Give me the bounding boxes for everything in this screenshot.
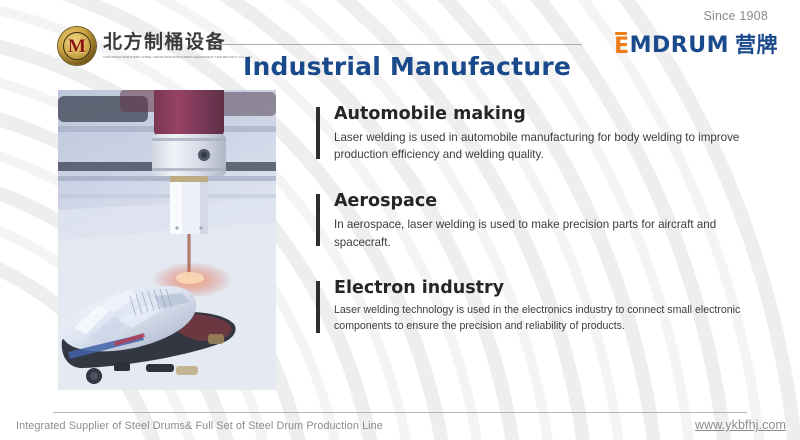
section-body: In aerospace, laser welding is used to m…: [334, 216, 754, 251]
section-title: Electron industry: [334, 278, 776, 300]
emdrum-brand-logo: E MDRUM 营牌: [614, 33, 778, 58]
photo-illustration: [58, 90, 276, 390]
section-accent-bar: [316, 107, 320, 159]
logo-company-name-cn: 北方制桶设备: [103, 33, 252, 53]
slide-canvas: M 北方制桶设备 TANGSHAN NORTHERN STEEL DRUM MA…: [0, 0, 800, 440]
emdrum-brand-text-cn: 营牌: [735, 35, 778, 56]
section-accent-bar: [316, 281, 320, 333]
company-logo: M 北方制桶设备 TANGSHAN NORTHERN STEEL DRUM MA…: [58, 27, 252, 65]
emdrum-brand-text: MDRUM: [630, 35, 729, 57]
since-label: Since 1908: [703, 9, 768, 23]
section-title: Aerospace: [334, 191, 776, 213]
section-aerospace: Aerospace In aerospace, laser welding is…: [316, 191, 776, 251]
header-divider: [213, 44, 582, 45]
laser-welding-photo: [58, 90, 276, 390]
logo-badge-icon: M: [58, 27, 96, 65]
logo-text-block: 北方制桶设备 TANGSHAN NORTHERN STEEL DRUM MANU…: [103, 33, 252, 59]
page-title: Industrial Manufacture: [243, 52, 571, 81]
section-title: Automobile making: [334, 104, 776, 126]
footer-website-link[interactable]: www.ykbfhj.com: [695, 418, 786, 432]
section-body: Laser welding is used in automobile manu…: [334, 129, 754, 164]
content-sections: Automobile making Laser welding is used …: [316, 104, 776, 335]
section-body: Laser welding technology is used in the …: [334, 303, 754, 335]
logo-company-name-en: TANGSHAN NORTHERN STEEL DRUM MANUFACTURI…: [103, 55, 252, 59]
section-accent-bar: [316, 194, 320, 246]
section-electron-industry: Electron industry Laser welding technolo…: [316, 278, 776, 335]
emdrum-drum-icon: E: [614, 33, 630, 58]
footer-tagline: Integrated Supplier of Steel Drums& Full…: [16, 420, 383, 432]
logo-badge-letter: M: [58, 27, 96, 65]
footer-divider: [53, 412, 747, 413]
section-automobile-making: Automobile making Laser welding is used …: [316, 104, 776, 164]
